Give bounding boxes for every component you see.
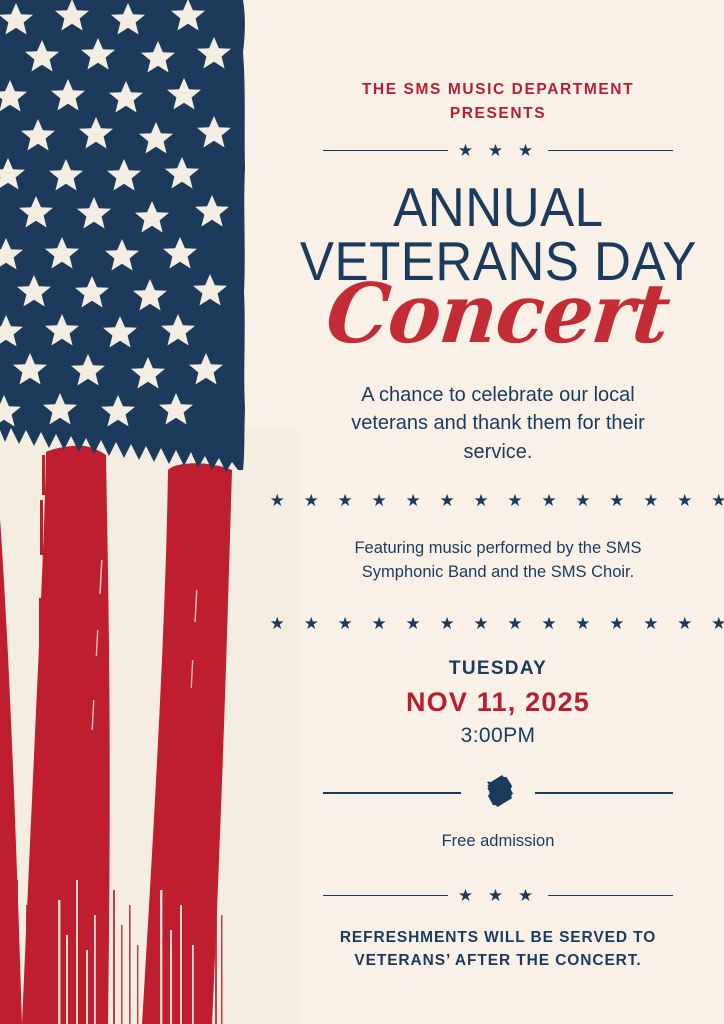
divider-line-right: [548, 895, 673, 897]
footer-line-2: VETERANS’ AFTER THE CONCERT.: [318, 949, 678, 972]
intro-blurb: A chance to celebrate our local veterans…: [323, 381, 673, 466]
three-stars-icon: ★ ★ ★: [458, 887, 538, 904]
presents-line-1: THE SMS MUSIC DEPARTMENT: [318, 78, 678, 102]
divider-stars-top: ★ ★ ★: [323, 142, 673, 159]
featuring-text: Featuring music performed by the SMS Sym…: [333, 537, 663, 585]
event-time: 3:00PM: [461, 724, 536, 748]
divider-line-right: [535, 792, 673, 794]
divider-star-row-2: ★ ★ ★ ★ ★ ★ ★ ★ ★ ★ ★ ★ ★ ★: [263, 615, 724, 632]
footer-line-1: REFRESHMENTS WILL BE SERVED TO: [318, 926, 678, 949]
divider-line-right: [548, 150, 673, 152]
three-stars-icon: ★ ★ ★: [458, 142, 538, 159]
divider-line-left: [323, 150, 448, 152]
presents-line-2: PRESENTS: [318, 102, 678, 126]
divider-star-row-1: ★ ★ ★ ★ ★ ★ ★ ★ ★ ★ ★ ★ ★ ★: [263, 492, 724, 509]
divider-tickets: [323, 770, 673, 816]
footer-note: REFRESHMENTS WILL BE SERVED TO VETERANS’…: [318, 926, 678, 973]
divider-line-left: [323, 792, 461, 794]
poster: THE SMS MUSIC DEPARTMENT PRESENTS ★ ★ ★ …: [0, 0, 724, 1024]
admission-label: Free admission: [442, 832, 555, 851]
presents-header: THE SMS MUSIC DEPARTMENT PRESENTS: [318, 78, 678, 126]
event-day: TUESDAY: [449, 658, 547, 680]
title-line-1: ANNUAL: [393, 176, 603, 238]
tickets-icon: [475, 770, 521, 816]
painted-usa-flag: [0, 0, 300, 1024]
divider-line-left: [323, 895, 448, 897]
poster-content: THE SMS MUSIC DEPARTMENT PRESENTS ★ ★ ★ …: [272, 0, 724, 1024]
event-date: NOV 11, 2025: [406, 687, 590, 718]
divider-stars-bottom: ★ ★ ★: [323, 887, 673, 904]
title-script-concert: Concert: [323, 273, 673, 355]
